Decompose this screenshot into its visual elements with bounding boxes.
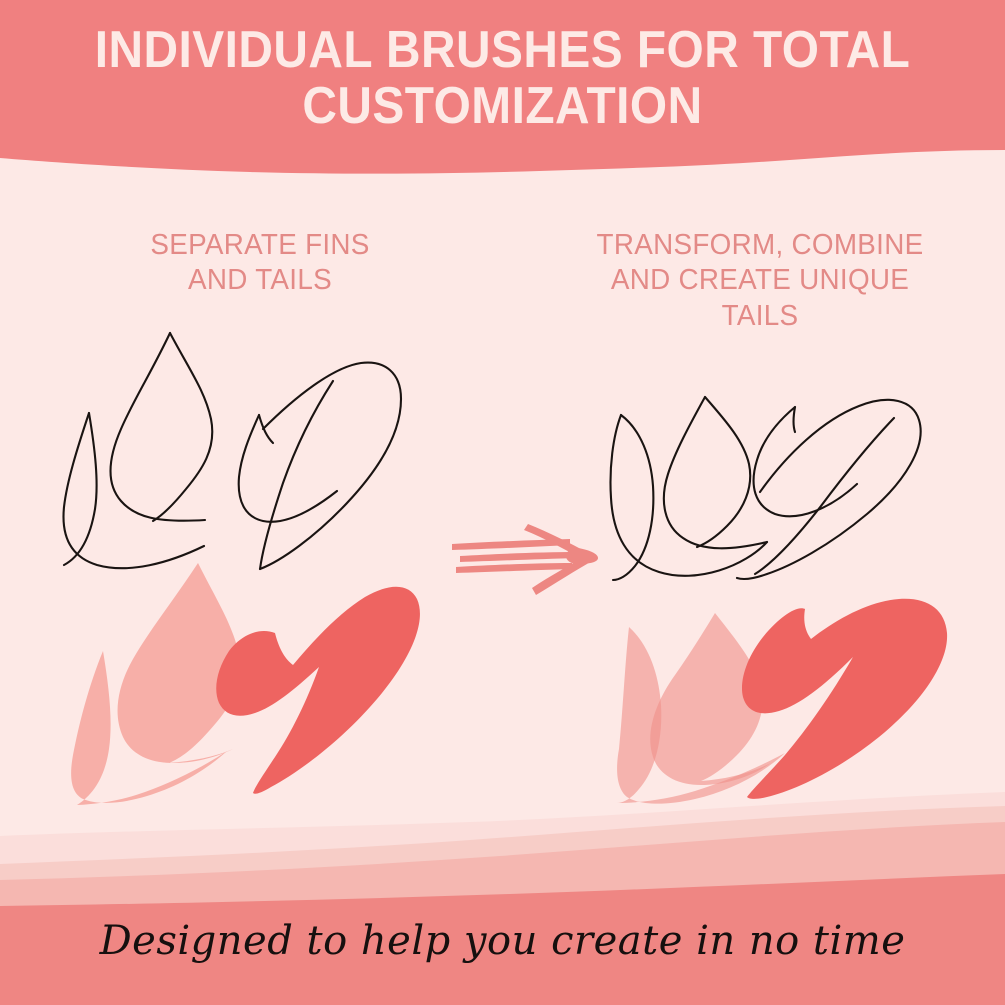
outline-combined-tail-base-hook [754, 407, 857, 516]
hand-drawn-right-arrow [440, 512, 605, 607]
filled-tail-leaf [216, 587, 420, 794]
promo-graphic: INDIVIDUAL BRUSHES FOR TOTAL CUSTOMIZATI… [0, 0, 1005, 1005]
header-band-shape [0, 0, 1005, 174]
filled-tail-left [216, 587, 420, 794]
filled-combined-tail-leaf [742, 599, 947, 799]
outline-tail-leaf-spine [260, 381, 333, 569]
outline-tail-base-notch [259, 415, 273, 443]
separate-filled-brushes [65, 555, 425, 820]
filled-combined-tail [742, 599, 947, 799]
outline-combined-tail-leaf-spine [755, 418, 894, 574]
arrow-head-tip [566, 548, 598, 564]
right-column-label: TRANSFORM, COMBINE AND CREATE UNIQUE TAI… [554, 228, 967, 334]
arrow-shaft-middle [460, 552, 578, 562]
outline-fin-flame-inner [111, 333, 206, 521]
outline-combined-tail-base-notch [794, 407, 796, 432]
combined-outline-brushes [605, 370, 950, 595]
arrow-strokes [452, 524, 598, 595]
outline-combined-fin-flame-inner [664, 397, 767, 548]
left-column-label: SEPARATE FINS AND TAILS [78, 228, 443, 299]
separate-outline-brushes [55, 325, 415, 585]
arrow-shaft-bottom [456, 563, 572, 573]
outline-tail-leaf-outer [260, 363, 401, 569]
outline-fin-flame-outer [153, 333, 212, 521]
outline-combined-fin-flame-outer [697, 397, 750, 547]
outline-combined-fin-sweep-outer [613, 415, 653, 580]
filled-fin-flame [118, 563, 241, 763]
combined-filled-brushes [615, 595, 965, 810]
filled-fin-left [71, 563, 240, 805]
outline-combined-fin-sweep-inner [610, 415, 767, 576]
outline-combined-tail-leaf-outer [737, 400, 921, 579]
